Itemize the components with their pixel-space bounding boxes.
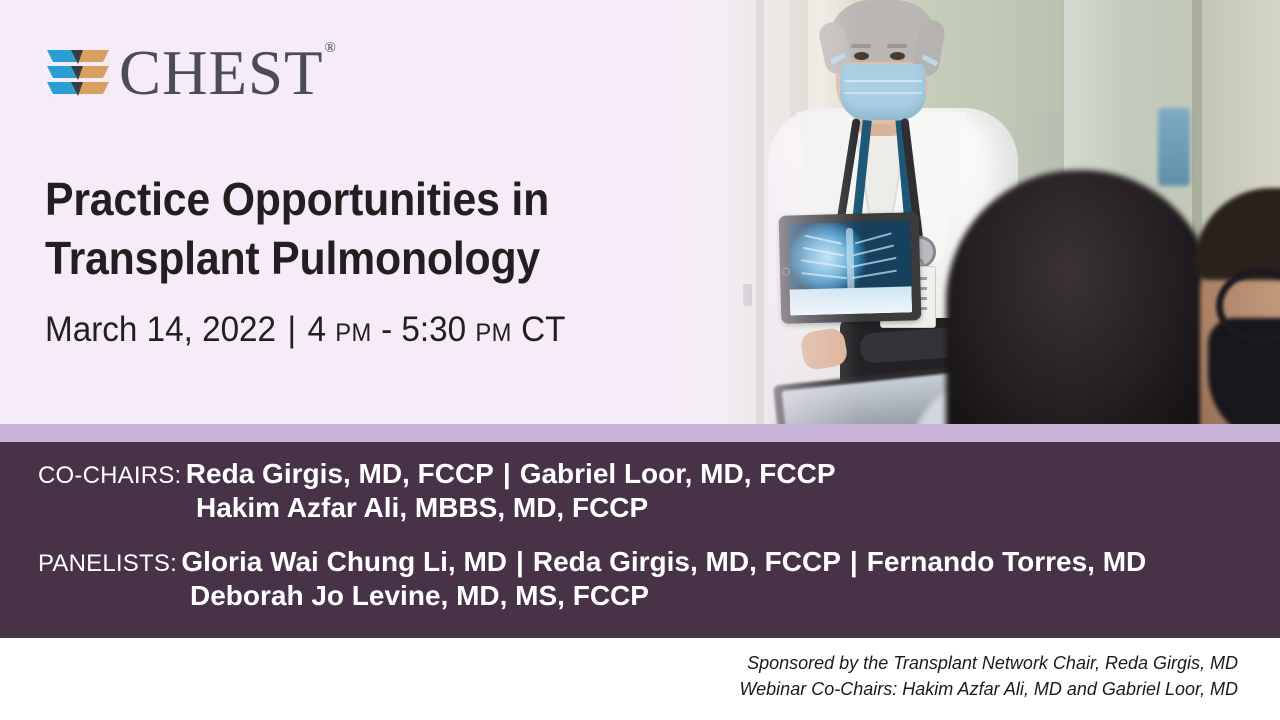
event-time-end: 5:30 — [401, 310, 466, 349]
attendee-head-foreground — [946, 170, 1214, 424]
supply-bottle — [1158, 108, 1190, 186]
panelists-row-1: PANELISTS: Gloria Wai Chung Li, MD|Reda … — [38, 546, 1262, 578]
co-chairs-group: CO-CHAIRS: Reda Girgis, MD, FCCP|Gabriel… — [38, 458, 1262, 524]
credits-separator: | — [841, 546, 867, 578]
panelist-name: Fernando Torres, MD — [867, 546, 1147, 577]
webinar-title-slide: CHEST® Practice Opportunities in Transpl… — [0, 0, 1280, 720]
registered-trademark-icon: ® — [325, 40, 337, 56]
event-time-start: 4 — [307, 310, 325, 349]
panelists-row-2: Deborah Jo Levine, MD, MS, FCCP — [38, 580, 1262, 612]
chest-logo[interactable]: CHEST® — [45, 40, 336, 108]
co-chair-name: Reda Girgis, MD, FCCP — [186, 458, 494, 489]
title-line-2: Transplant Pulmonology — [45, 229, 549, 288]
chest-wordmark-text: CHEST — [119, 38, 324, 108]
section-divider — [0, 424, 1280, 442]
page-title: Practice Opportunities in Transplant Pul… — [45, 170, 549, 288]
event-time-end-meridiem: PM — [475, 319, 512, 347]
panelist-name: Deborah Jo Levine, MD, MS, FCCP — [190, 580, 649, 611]
chest-wordmark: CHEST® — [119, 37, 336, 105]
event-datetime: March 14, 2022|4 PM - 5:30 PM CT — [45, 310, 565, 350]
sponsor-line-2: Webinar Co-Chairs: Hakim Azfar Ali, MD a… — [740, 676, 1239, 702]
chest-lungs-logo-icon — [45, 42, 111, 106]
eyebrow-right — [887, 44, 907, 48]
co-chairs-row-1: CO-CHAIRS: Reda Girgis, MD, FCCP|Gabriel… — [38, 458, 1262, 490]
sponsor-credit: Sponsored by the Transplant Network Chai… — [740, 650, 1239, 702]
panelists-group: PANELISTS: Gloria Wai Chung Li, MD|Reda … — [38, 546, 1262, 612]
credits-separator: | — [494, 458, 520, 490]
hero-section: CHEST® Practice Opportunities in Transpl… — [0, 0, 1280, 424]
panelists-label: PANELISTS: — [38, 550, 177, 577]
time-range-dash: - — [381, 310, 392, 349]
xray-rib — [855, 232, 892, 244]
event-timezone: CT — [521, 310, 565, 349]
event-date: March 14, 2022 — [45, 310, 276, 349]
footer-section: Sponsored by the Transplant Network Chai… — [0, 638, 1280, 720]
photo-gradient-fade — [660, 0, 860, 424]
event-time-start-meridiem: PM — [335, 319, 372, 347]
credits-separator: | — [507, 546, 533, 578]
panelist-name: Gloria Wai Chung Li, MD — [181, 546, 507, 577]
credits-block: CO-CHAIRS: Reda Girgis, MD, FCCP|Gabriel… — [38, 458, 1262, 614]
co-chairs-label: CO-CHAIRS: — [38, 462, 181, 489]
co-chairs-row-2: Hakim Azfar Ali, MBBS, MD, FCCP — [38, 492, 1262, 524]
panelist-name: Reda Girgis, MD, FCCP — [533, 546, 841, 577]
credits-section: CO-CHAIRS: Reda Girgis, MD, FCCP|Gabriel… — [0, 442, 1280, 638]
hero-photo — [660, 0, 1280, 424]
co-chair-name: Gabriel Loor, MD, FCCP — [520, 458, 836, 489]
title-line-1: Practice Opportunities in — [45, 170, 549, 229]
eye-right — [890, 52, 905, 60]
co-chair-name: Hakim Azfar Ali, MBBS, MD, FCCP — [196, 492, 648, 523]
sponsor-line-1: Sponsored by the Transplant Network Chai… — [740, 650, 1239, 676]
datetime-separator: | — [276, 310, 307, 350]
